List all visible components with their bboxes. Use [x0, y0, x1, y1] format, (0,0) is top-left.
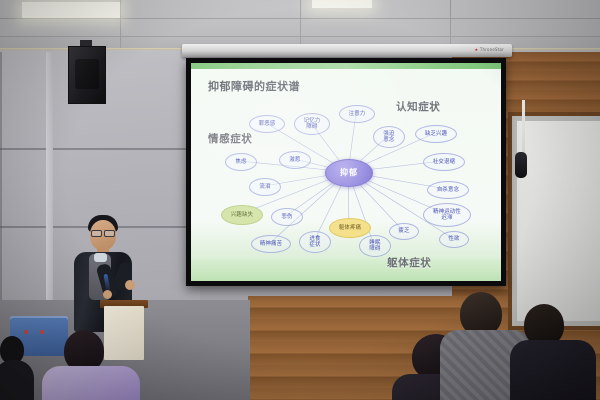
audience-member	[0, 336, 34, 400]
case-indicator-light	[40, 330, 44, 334]
mindmap-node-beishang: 悲伤	[271, 208, 303, 226]
mindmap-node-jingshenyundong: 精神运动性 迟滞	[423, 203, 471, 227]
mindmap-node-xingyu: 性欲	[439, 231, 469, 248]
ceiling-light-panel	[22, 2, 120, 18]
mindmap-node-zishayinian: 自杀意念	[427, 181, 469, 199]
case-indicator-light	[24, 330, 28, 334]
mindmap-node-pifa: 疲乏	[389, 223, 419, 240]
ceiling-light-panel	[312, 0, 372, 8]
mindmap-node-quefaxingqu: 缺乏兴趣	[415, 125, 457, 143]
slide-title: 抑郁障碍的症状谱	[208, 78, 300, 94]
slide-bottom-band	[191, 259, 501, 281]
mindmap-node-shejiaotuisuo: 社交退缩	[423, 153, 465, 171]
projection-screen: 抑郁障碍的症状谱 情感症状认知症状躯体症状 罪恶感记忆力 障碍注意力强迫 意念缺…	[186, 58, 506, 286]
audience-member	[516, 304, 586, 400]
ceiling-grid-line	[120, 0, 121, 50]
mindmap-node-qiangpoyinian: 强迫 意念	[373, 126, 405, 148]
screen-brand-logo: ★ ThroneStar	[475, 47, 504, 52]
whiteboard	[512, 116, 600, 326]
hanging-cable	[522, 100, 525, 160]
presenter-hand	[103, 290, 112, 299]
section-label-cognitive: 认知症状	[396, 99, 440, 114]
audience-purple-jacket	[42, 366, 140, 400]
brand-name: ThroneStar	[480, 47, 504, 52]
presenter-collar	[94, 253, 107, 262]
mindmap-node-shuimianzhangai: 睡眠 障碍	[359, 235, 391, 257]
lecture-hall-photo: ★ ThroneStar 抑郁障碍的症状谱 情感症状认知症状躯体症状 罪恶感记忆…	[0, 0, 600, 400]
mindmap-center-node: 抑郁	[325, 159, 373, 187]
section-label-somatic: 躯体症状	[387, 255, 431, 270]
section-label-emotional: 情感症状	[208, 131, 252, 146]
audience-body	[0, 360, 34, 400]
brand-mark-icon: ★	[475, 47, 479, 52]
presentation-slide: 抑郁障碍的症状谱 情感症状认知症状躯体症状 罪恶感记忆力 障碍注意力强迫 意念缺…	[191, 63, 501, 281]
ceiling-grid-line	[450, 0, 451, 48]
mindmap-node-jinshizhengzhuang: 进食 症状	[299, 231, 331, 253]
audience-member	[48, 330, 134, 400]
mindmap-node-zhuyili: 注意力	[339, 105, 375, 123]
projector-screen-housing: ★ ThroneStar	[182, 44, 512, 57]
mindmap-node-jiyili: 记忆力 障碍	[294, 113, 330, 135]
glasses-icon	[91, 230, 115, 235]
mindmap-node-jiaolv: 焦虑	[225, 153, 257, 171]
mindmap-node-jire: 激惹	[279, 151, 311, 169]
speaker-grille	[75, 59, 99, 89]
slide-top-band	[191, 63, 501, 69]
wall-speaker	[68, 46, 106, 104]
presenter-gesturing-fist	[125, 280, 135, 290]
ceiling-grid-line	[300, 0, 301, 50]
mindmap-node-jingshentongku: 精神痛苦	[251, 235, 291, 253]
mindmap-node-xingququeshi: 兴趣缺失	[221, 205, 263, 225]
audience-body	[510, 340, 596, 400]
hanging-microphone	[515, 152, 527, 178]
mindmap-node-liulei: 流泪	[249, 178, 281, 196]
mindmap-node-zuiegan: 罪恶感	[249, 115, 285, 133]
mindmap-node-qutiteng: 躯体疼痛	[329, 218, 371, 238]
